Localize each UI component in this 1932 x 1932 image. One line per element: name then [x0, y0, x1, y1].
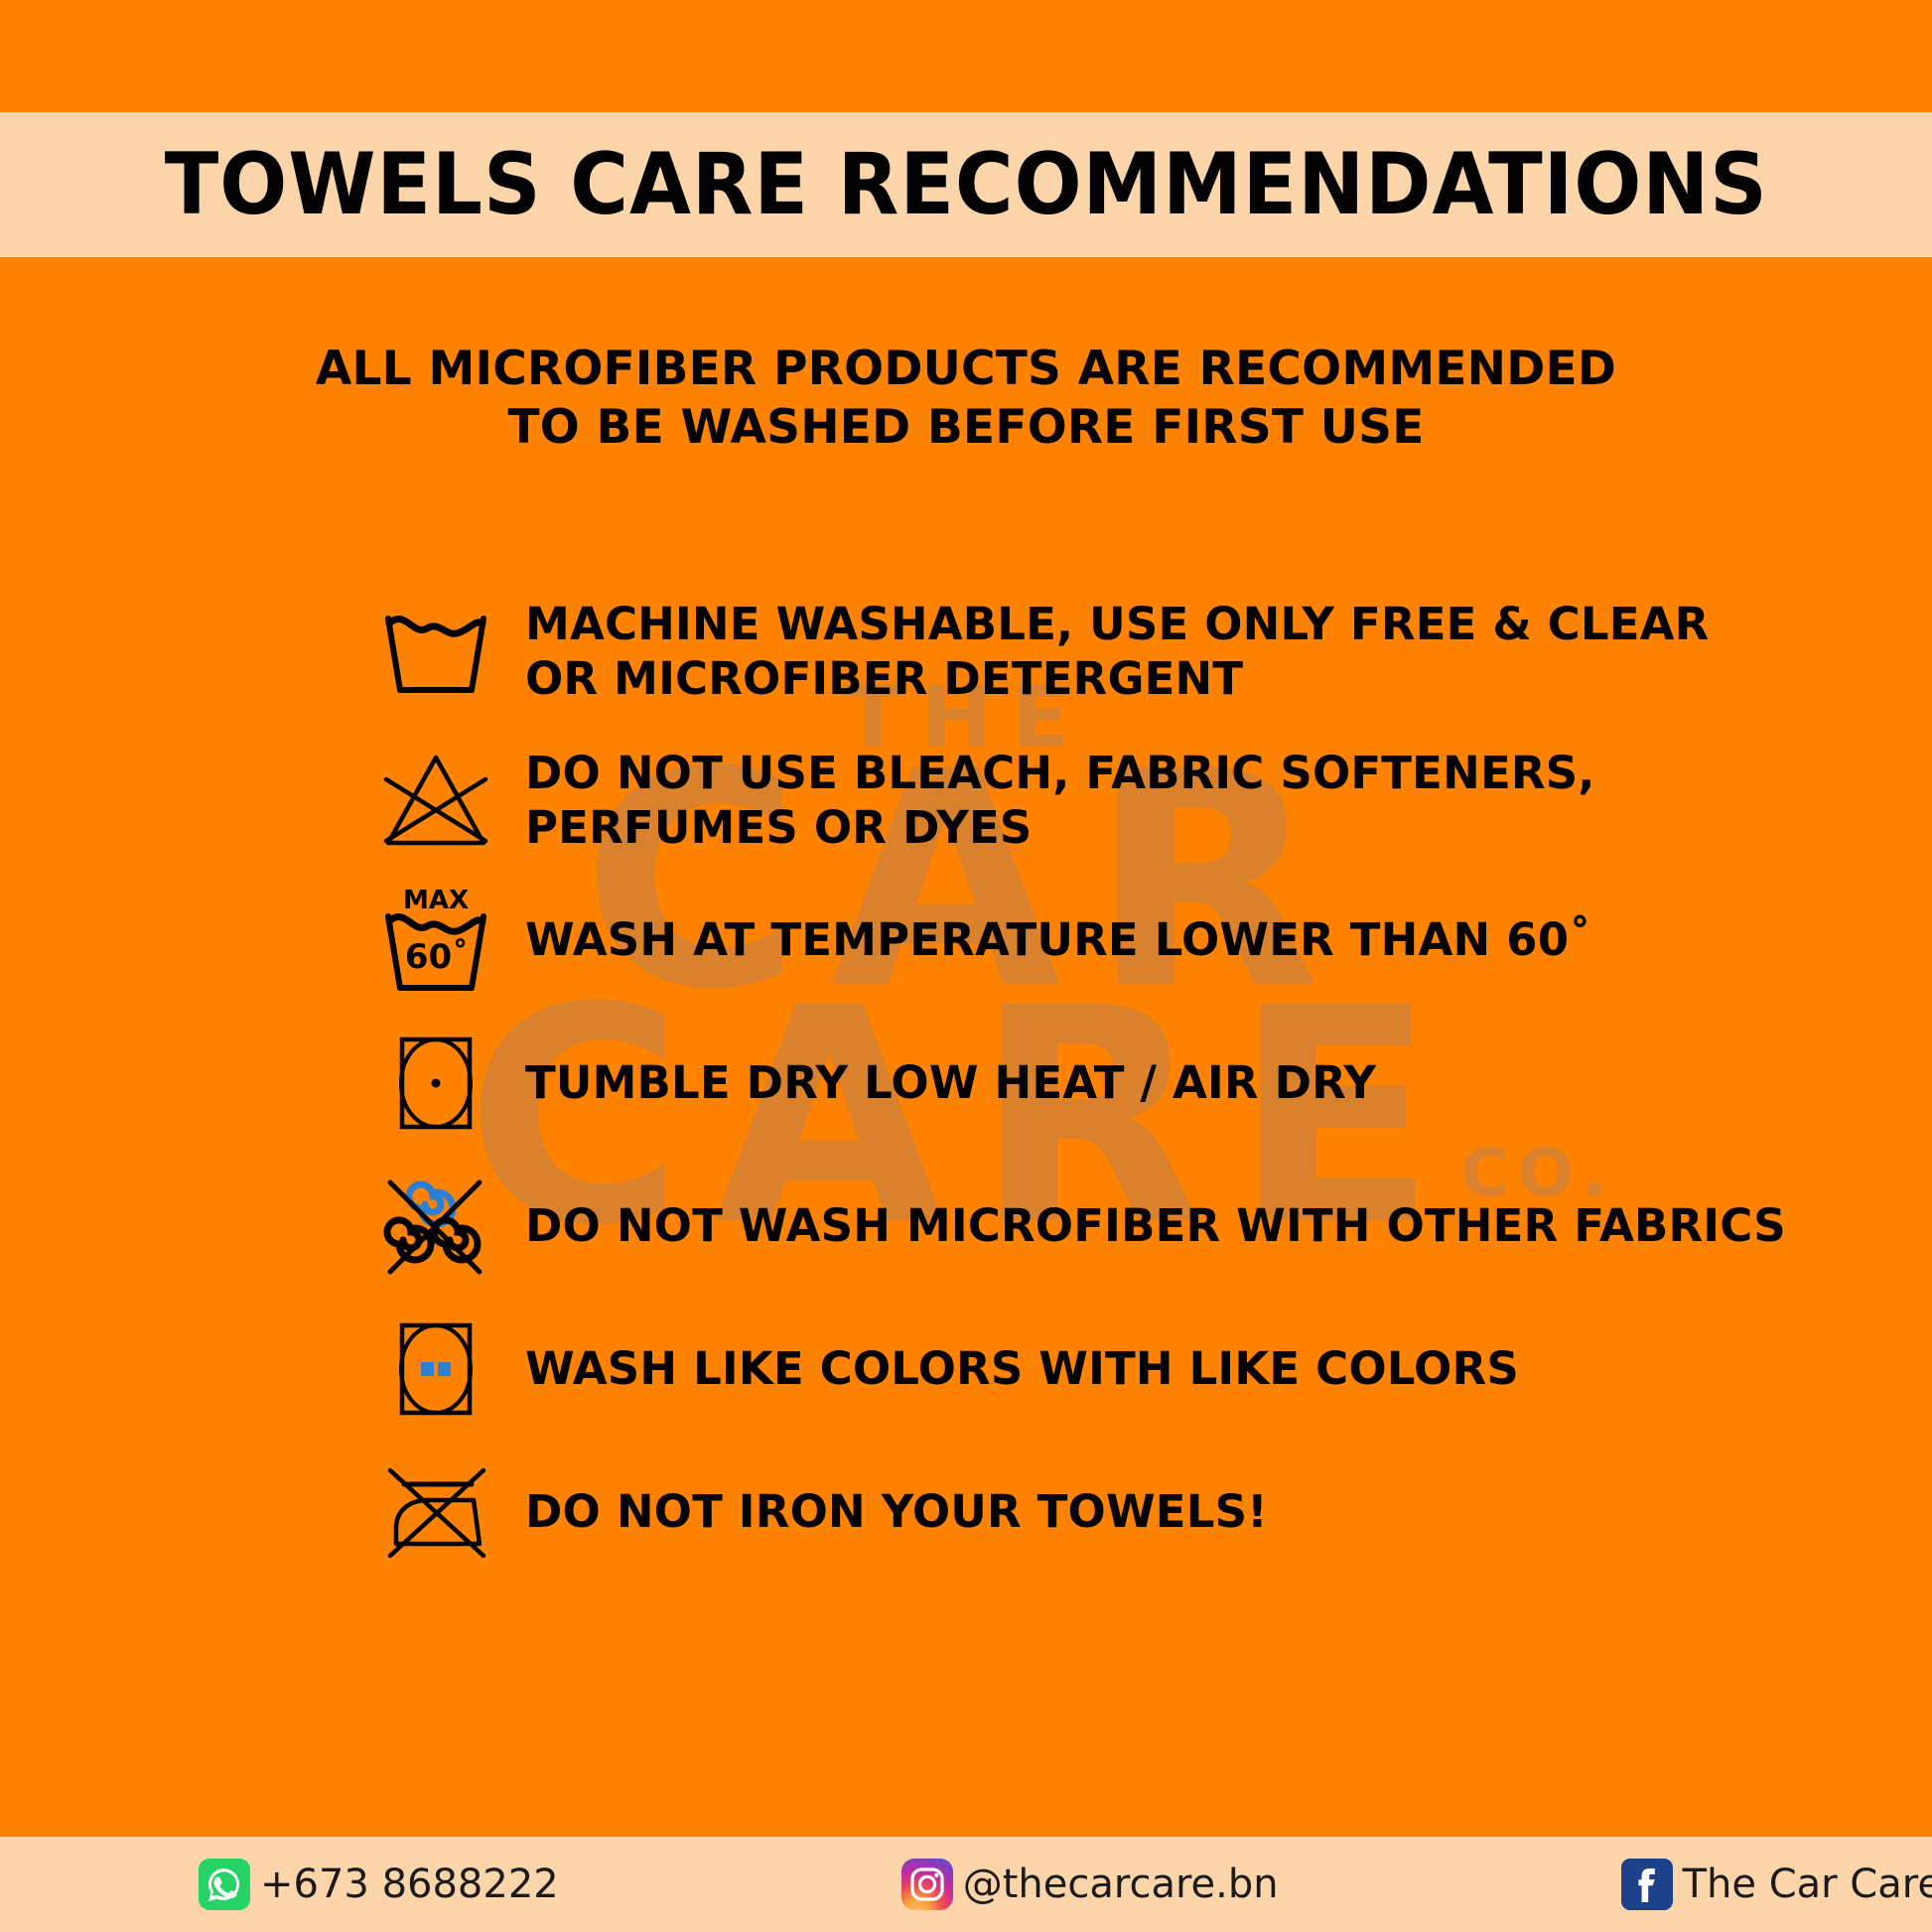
do-not-iron-icon: [372, 1453, 499, 1571]
care-item-wash-temperature: MAX 60˚ WASH AT TEMPERATURE LOWER THAN 6…: [372, 882, 1921, 999]
facebook-page-name: The Car Care Company: [1683, 1862, 1932, 1907]
do-not-bleach-triangle-icon: [372, 743, 499, 860]
subtitle-line-1: ALL MICROFIBER PRODUCTS ARE RECOMMENDED: [0, 341, 1932, 399]
care-item-tumble-dry: TUMBLE DRY LOW HEAT / AIR DRY: [372, 1025, 1921, 1142]
subtitle-line-2: TO BE WASHED BEFORE FIRST USE: [0, 399, 1932, 458]
header-band: TOWELS CARE RECOMMENDATIONS: [0, 112, 1932, 257]
footer-band: +673 8688222 @thecarcare.bn: [0, 1837, 1932, 1932]
care-item-text: MACHINE WASHABLE, USE ONLY FREE & CLEAR …: [525, 598, 1710, 707]
care-item-line-2: OR MICROFIBER DETERGENT: [525, 652, 1710, 707]
care-instruction-list: MACHINE WASHABLE, USE ONLY FREE & CLEAR …: [372, 594, 1921, 1571]
care-item-line-1: DO NOT USE BLEACH, FABRIC SOFTENERS,: [525, 747, 1595, 801]
care-item-do-not-iron: DO NOT IRON YOUR TOWELS!: [372, 1453, 1921, 1571]
care-item-text: WASH AT TEMPERATURE LOWER THAN 60˚: [525, 913, 1591, 968]
care-item-text: TUMBLE DRY LOW HEAT / AIR DRY: [525, 1056, 1376, 1111]
wash-tub-icon: [372, 594, 499, 711]
do-not-mix-fabrics-spirals-icon: [372, 1168, 499, 1285]
instagram-icon[interactable]: [901, 1859, 953, 1910]
tumble-dry-low-icon: [372, 1025, 499, 1142]
footer-contact-facebook[interactable]: The Car Care Company: [1621, 1859, 1932, 1910]
wash-like-colors-icon: [372, 1311, 499, 1428]
care-item-wash-like-colors: WASH LIKE COLORS WITH LIKE COLORS: [372, 1311, 1921, 1428]
care-item-line-1: WASH LIKE COLORS WITH LIKE COLORS: [525, 1342, 1519, 1397]
care-item-text: DO NOT IRON YOUR TOWELS!: [525, 1485, 1268, 1540]
facebook-icon[interactable]: [1621, 1859, 1673, 1910]
care-item-do-not-mix-fabrics: DO NOT WASH MICROFIBER WITH OTHER FABRIC…: [372, 1168, 1921, 1285]
care-item-line-1: DO NOT WASH MICROFIBER WITH OTHER FABRIC…: [525, 1199, 1786, 1254]
page-title: TOWELS CARE RECOMMENDATIONS: [165, 135, 1768, 234]
care-item-do-not-bleach: DO NOT USE BLEACH, FABRIC SOFTENERS, PER…: [372, 743, 1921, 860]
subtitle: ALL MICROFIBER PRODUCTS ARE RECOMMENDED …: [0, 341, 1932, 458]
care-item-text: DO NOT WASH MICROFIBER WITH OTHER FABRIC…: [525, 1199, 1786, 1254]
care-item-line-1: DO NOT IRON YOUR TOWELS!: [525, 1485, 1268, 1540]
instagram-handle: @thecarcare.bn: [963, 1862, 1279, 1907]
care-item-machine-washable: MACHINE WASHABLE, USE ONLY FREE & CLEAR …: [372, 594, 1921, 711]
care-item-line-2: PERFUMES OR DYES: [525, 801, 1595, 856]
footer-contact-instagram[interactable]: @thecarcare.bn: [901, 1859, 1279, 1910]
care-item-text: WASH LIKE COLORS WITH LIKE COLORS: [525, 1342, 1519, 1397]
icon-temperature-label: 60˚: [405, 937, 469, 977]
care-item-text: DO NOT USE BLEACH, FABRIC SOFTENERS, PER…: [525, 747, 1595, 856]
care-item-line-1: WASH AT TEMPERATURE LOWER THAN 60˚: [525, 913, 1591, 968]
care-item-line-1: TUMBLE DRY LOW HEAT / AIR DRY: [525, 1056, 1376, 1111]
wash-temperature-tub-icon: MAX 60˚: [372, 882, 499, 999]
care-item-line-1: MACHINE WASHABLE, USE ONLY FREE & CLEAR: [525, 598, 1710, 652]
whatsapp-phone-number: +673 8688222: [260, 1862, 559, 1907]
footer-contact-whatsapp[interactable]: +673 8688222: [199, 1859, 559, 1910]
whatsapp-icon[interactable]: [199, 1859, 250, 1910]
icon-max-label: MAX: [403, 886, 469, 915]
